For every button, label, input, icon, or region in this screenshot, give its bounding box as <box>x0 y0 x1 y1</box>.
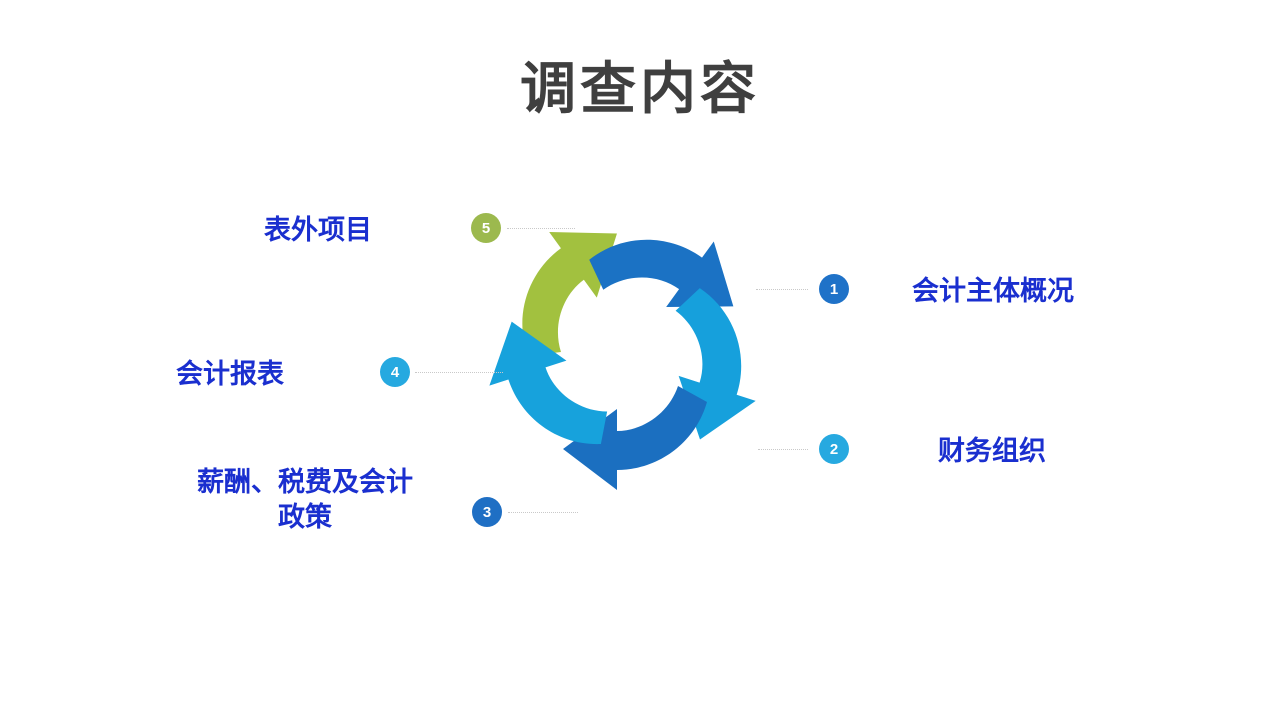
cycle-diagram: 1 2 3 4 5 会计主体概况 财务组织 薪酬、税费及会计 政策 会计报表 表… <box>0 170 1280 600</box>
badge-item-5[interactable]: 5 <box>471 213 501 243</box>
connector-line-2 <box>758 449 808 450</box>
connector-line-3 <box>508 512 578 513</box>
label-item-3[interactable]: 薪酬、税费及会计 政策 <box>170 465 440 535</box>
slide-canvas: 调查内容 <box>0 0 1280 720</box>
badge-item-1[interactable]: 1 <box>819 274 849 304</box>
label-item-1[interactable]: 会计主体概况 <box>912 274 1212 309</box>
label-item-2[interactable]: 财务组织 <box>938 434 1218 469</box>
label-item-5[interactable]: 表外项目 <box>228 213 408 248</box>
cycle-arrow-5 <box>476 200 654 369</box>
connector-line-5 <box>507 228 575 229</box>
cycle-arrows-graphic <box>455 190 795 510</box>
connector-line-4 <box>415 372 503 373</box>
badge-item-3[interactable]: 3 <box>472 497 502 527</box>
badge-item-2[interactable]: 2 <box>819 434 849 464</box>
page-title: 调查内容 <box>0 58 1280 120</box>
label-item-4[interactable]: 会计报表 <box>140 357 320 392</box>
badge-item-4[interactable]: 4 <box>380 357 410 387</box>
connector-line-1 <box>756 289 808 290</box>
